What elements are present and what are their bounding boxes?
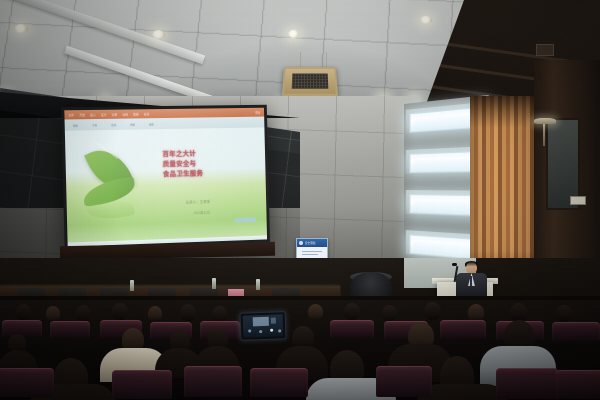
subtoolbar-item: 段落 [111, 122, 116, 126]
slide-date: 2023年11月 [194, 210, 211, 215]
water-bottle [256, 279, 260, 290]
phone-control-icon[interactable] [278, 329, 281, 332]
ac-grille [292, 73, 329, 88]
downlight-icon [152, 30, 165, 39]
poster-header: 安全须知 [297, 239, 327, 247]
subtoolbar-item: 编辑 [149, 122, 154, 126]
seated-audience [0, 300, 600, 400]
auditorium-seat[interactable] [2, 320, 42, 337]
slide-title-line: 食品卫生服务 [163, 170, 203, 178]
poster-header-text: 安全须知 [305, 241, 315, 245]
ceiling-ac-cassette-icon [282, 67, 338, 96]
ribbon-tab: 切换 [112, 112, 118, 116]
audience-head [16, 304, 31, 320]
downlight-icon [420, 16, 432, 24]
ceiling-speaker-icon [536, 44, 554, 56]
curtain-shadow-top [470, 96, 536, 128]
audience-head [556, 305, 572, 322]
slide-canvas: 百年之大计 质量安全与 食品卫生服务 主讲人：王老师 2023年11月 [65, 127, 267, 246]
ribbon-tab: 文件 [68, 113, 74, 117]
phone-preview-thumb [271, 318, 276, 324]
subtoolbar-item: 绘图 [130, 122, 135, 126]
audience-head [382, 305, 397, 321]
audience-head [344, 303, 360, 320]
tissue-box [228, 289, 244, 296]
sconce-arm [543, 124, 545, 146]
screen-surface: 文件 开始 插入 设计 切换 动画 放映 审阅 登录 粘贴 字体 段落 绘图 编… [64, 108, 267, 247]
audience-head [212, 306, 227, 322]
audience-head [76, 305, 91, 321]
phone-screen [243, 314, 284, 337]
slide-accent-chip [235, 217, 256, 223]
phone-record-icon[interactable] [270, 329, 273, 332]
auditorium-seat[interactable] [496, 368, 558, 399]
auditorium-seat[interactable] [376, 366, 432, 397]
slide-subtitle: 主讲人：王老师 [185, 200, 210, 206]
ac-hanger [300, 52, 301, 68]
ribbon-tab: 放映 [133, 112, 139, 116]
presenter-tie [470, 276, 472, 286]
projection-screen: 文件 开始 插入 设计 切换 动画 放映 审阅 登录 粘贴 字体 段落 绘图 编… [61, 105, 270, 250]
subtoolbar-item: 粘贴 [73, 123, 78, 127]
auditorium-seat[interactable] [556, 370, 600, 399]
ribbon-tab: 设计 [101, 112, 107, 116]
auditorium-seat[interactable] [50, 321, 90, 338]
ribbon-tab: 开始 [79, 113, 85, 117]
water-bottle [212, 278, 216, 289]
audience-head [308, 304, 323, 320]
ribbon-tab: 动画 [122, 112, 128, 116]
slide-title: 百年之大计 质量安全与 食品卫生服务 [162, 149, 253, 178]
ribbon-tab: 插入 [90, 112, 96, 116]
subtoolbar-item: 字体 [92, 123, 97, 127]
audience-head [112, 303, 128, 320]
lecture-hall-photo: 文件 开始 插入 设计 切换 动画 放映 审阅 登录 粘贴 字体 段落 绘图 编… [0, 0, 600, 400]
auditorium-seat[interactable] [112, 370, 172, 399]
wall-sconce-icon [534, 118, 556, 124]
audience-head [148, 306, 162, 321]
auditorium-seat[interactable] [250, 368, 308, 397]
slide-title-line: 质量安全与 [163, 160, 197, 168]
auditorium-seat[interactable] [184, 366, 242, 397]
audience-head [180, 304, 196, 321]
phone-preview-thumb [253, 317, 269, 327]
wall-plate-icon [570, 196, 586, 205]
auditorium-seat[interactable] [330, 320, 374, 338]
phone-control-icon[interactable] [259, 330, 262, 333]
water-bottle [130, 280, 134, 291]
poster-logo-icon [299, 241, 303, 245]
poster-text-line [302, 251, 322, 252]
slide-title-line: 百年之大计 [162, 150, 196, 158]
audience-head [46, 306, 60, 321]
poster-text-line [302, 254, 318, 255]
auditorium-seat[interactable] [440, 320, 486, 339]
phone-control-icon[interactable] [248, 329, 251, 332]
downlight-icon [14, 24, 28, 33]
auditorium-seat[interactable] [552, 322, 600, 341]
ribbon-login-label: 登录 [255, 110, 260, 114]
auditorium-seat[interactable] [0, 368, 54, 397]
ribbon-tab: 审阅 [144, 112, 150, 116]
audience-head [468, 304, 484, 321]
smartphone-recording[interactable] [240, 311, 287, 341]
downlight-icon [288, 30, 299, 38]
ac-hanger [326, 52, 327, 68]
audience-head [510, 303, 527, 321]
audience-head [424, 302, 441, 320]
microphone-icon [452, 263, 457, 266]
